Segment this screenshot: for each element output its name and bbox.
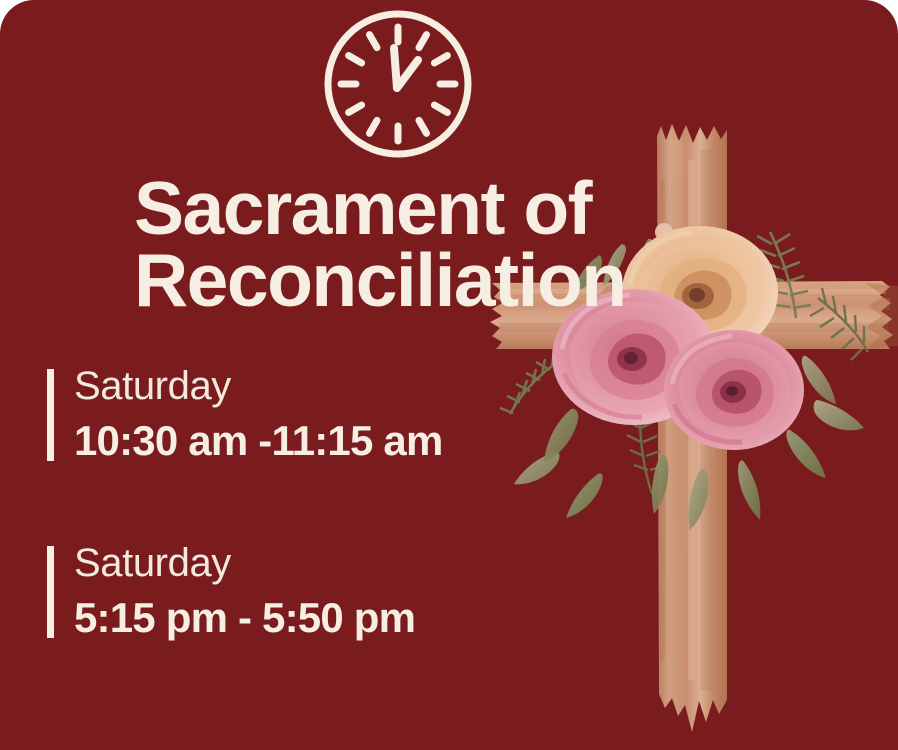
entry-day-label: Saturday	[74, 362, 567, 411]
entry-day-label: Saturday	[74, 539, 567, 588]
schedule-entry-2: Saturday 5:15 pm - 5:50 pm	[47, 539, 567, 644]
entry-accent-bar	[47, 369, 54, 461]
poster-card: Sacrament of Reconciliation Saturday 10:…	[0, 0, 898, 750]
page-title: Sacrament of Reconciliation	[134, 172, 834, 316]
title-line-2: Reconciliation	[134, 244, 834, 316]
schedule-entry-1: Saturday 10:30 am -11:15 am	[47, 362, 567, 467]
entry-time-label: 10:30 am -11:15 am	[74, 415, 567, 467]
entry-accent-bar	[47, 546, 54, 638]
entry-time-label: 5:15 pm - 5:50 pm	[74, 592, 567, 644]
schedule-list: Saturday 10:30 am -11:15 am Saturday 5:1…	[47, 362, 567, 716]
clock-hands	[394, 48, 418, 88]
fern-bottom	[626, 418, 664, 494]
title-line-1: Sacrament of	[134, 172, 834, 244]
clock-icon	[322, 8, 474, 160]
foreground-leaves	[544, 356, 836, 514]
rose-pink-right	[664, 330, 804, 450]
